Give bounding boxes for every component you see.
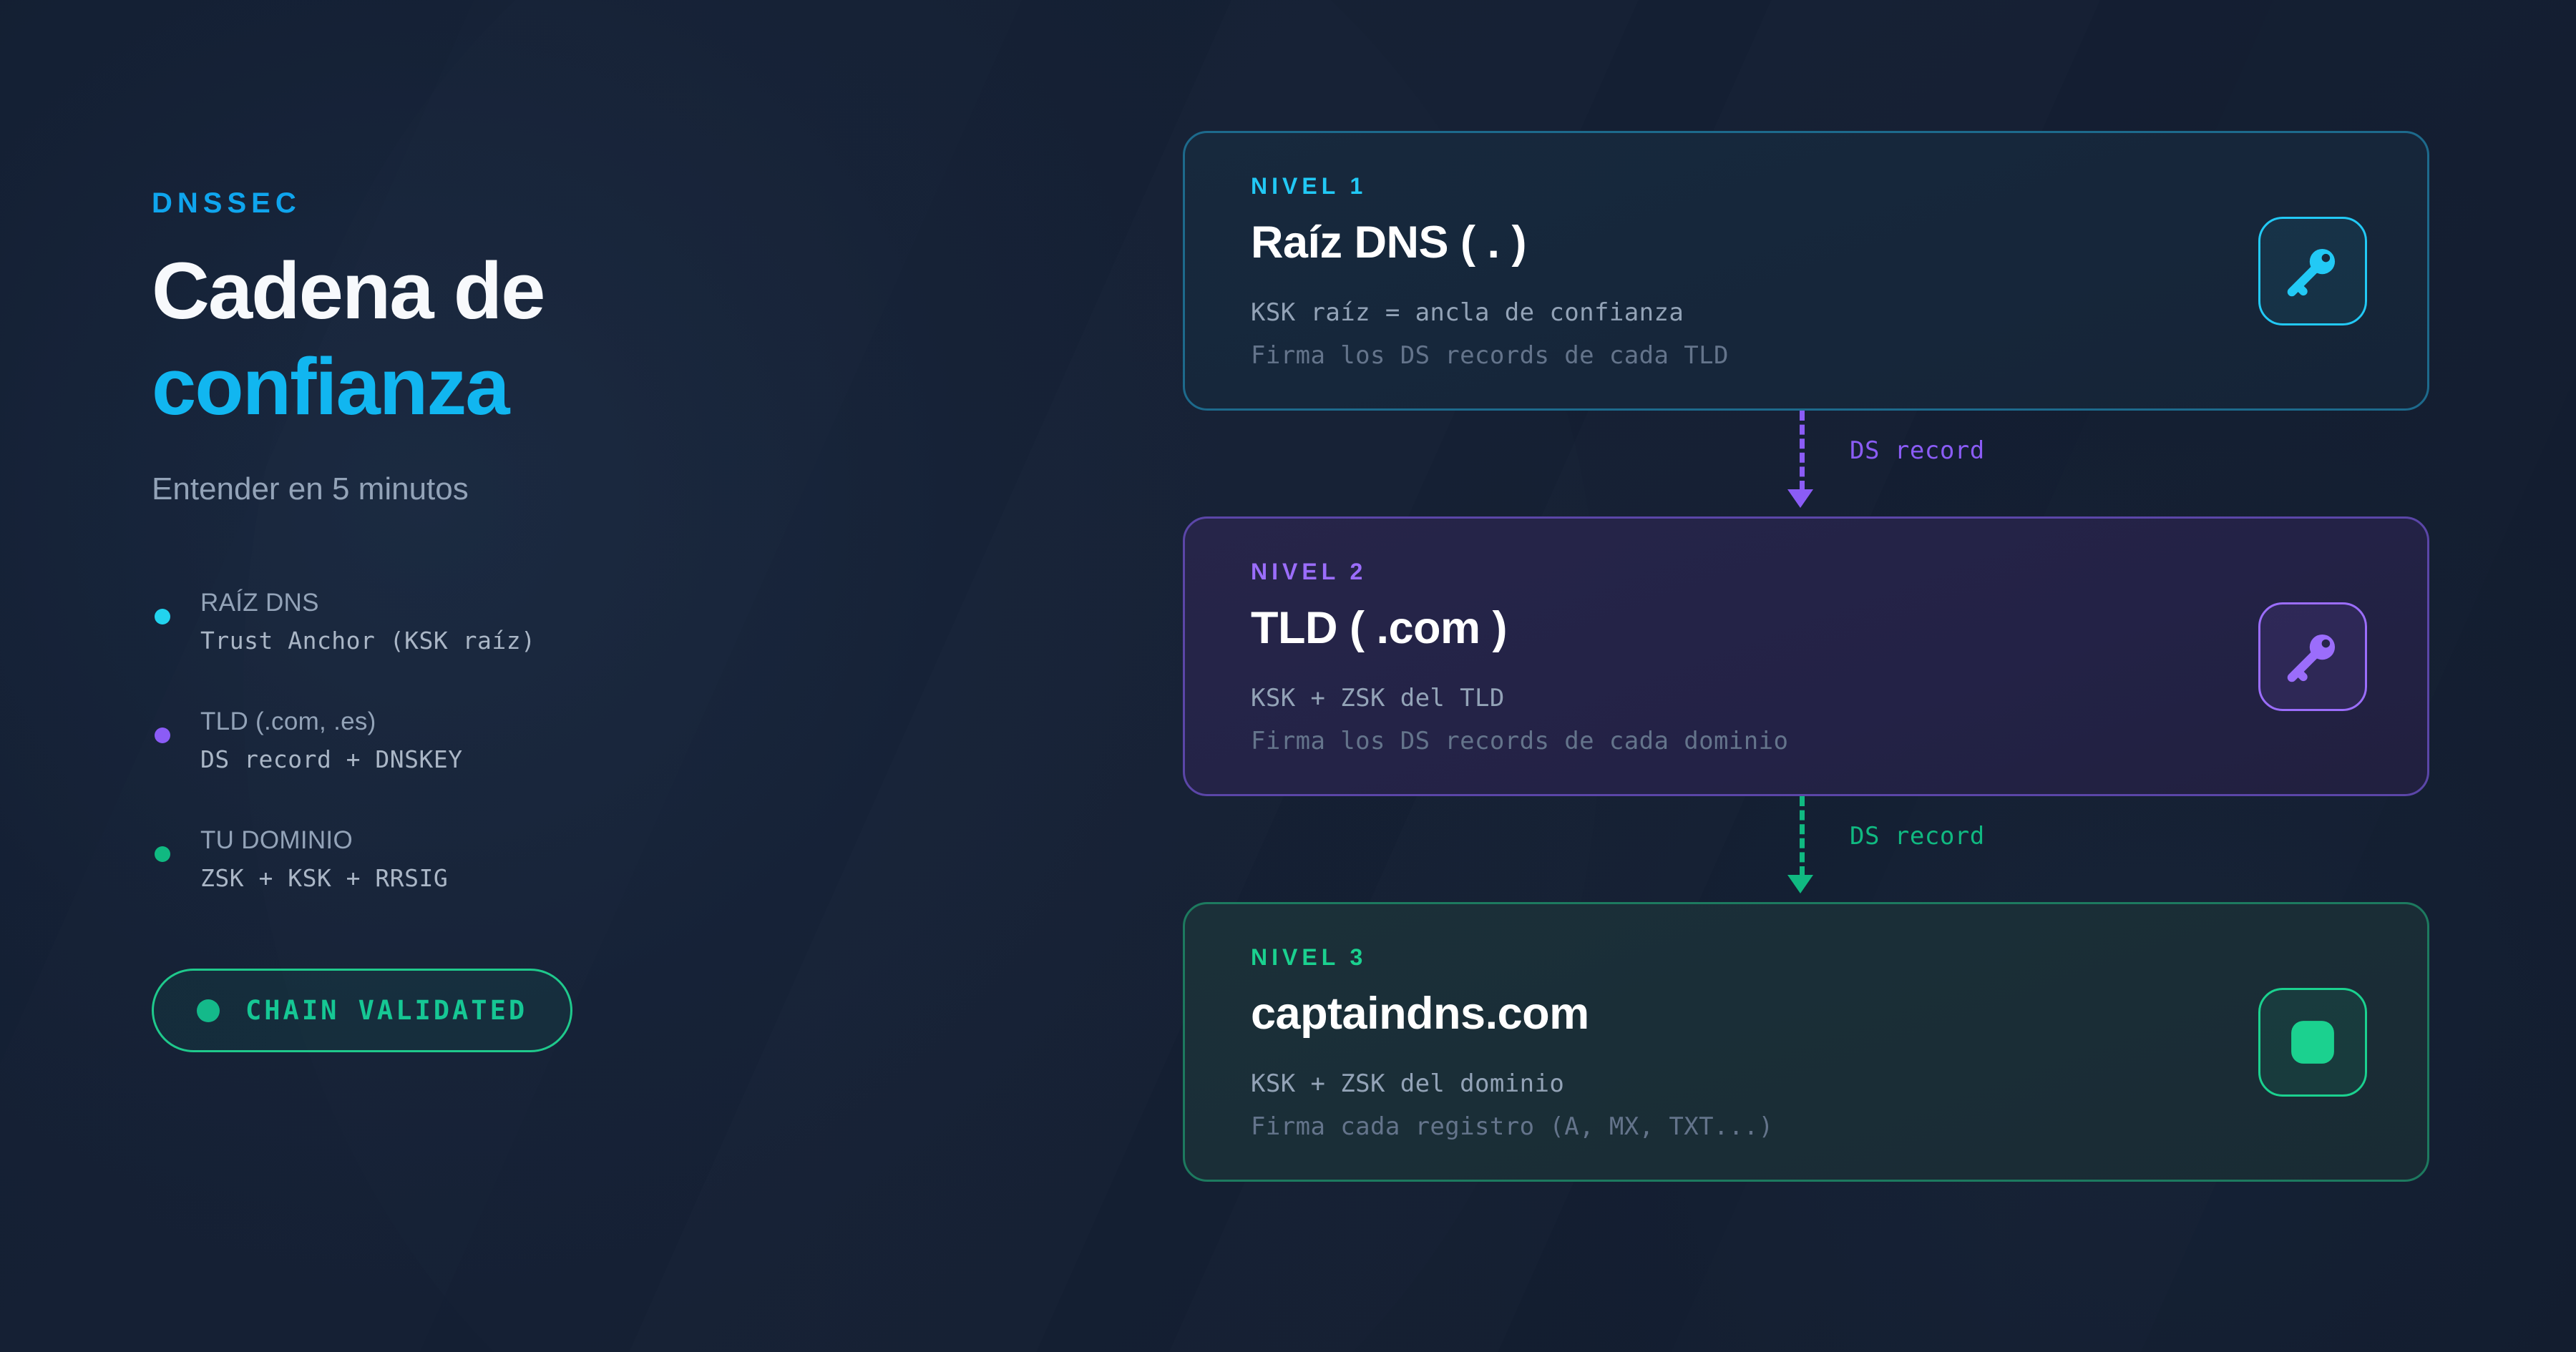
legend-item-detail: Trust Anchor (KSK raíz): [200, 625, 1053, 657]
card-level-label: NIVEL 1: [1251, 173, 2380, 200]
card-detail-secondary: Firma cada registro (A, MX, TXT...): [1251, 1112, 2380, 1141]
card-icon-chip: [2258, 988, 2367, 1097]
status-badge: CHAIN VALIDATED: [152, 969, 572, 1052]
legend-list: RAÍZ DNS Trust Anchor (KSK raíz) TLD (.c…: [152, 586, 1053, 894]
page-title: Cadena de confianza: [152, 251, 1053, 427]
legend-item-title: TU DOMINIO: [200, 823, 1053, 857]
card-title: captaindns.com: [1251, 988, 2380, 1039]
intro-panel: DNSSEC Cadena de confianza Entender en 5…: [152, 187, 1053, 1052]
legend-item-title: RAÍZ DNS: [200, 586, 1053, 619]
page-title-line-1: Cadena de: [152, 246, 544, 335]
key-icon: [2280, 624, 2346, 690]
legend-item-title: TLD (.com, .es): [200, 705, 1053, 738]
card-icon-chip: [2258, 602, 2367, 711]
status-badge-label: CHAIN VALIDATED: [245, 995, 527, 1026]
card-title: Raíz DNS ( . ): [1251, 217, 2380, 268]
legend-item-detail: ZSK + KSK + RRSIG: [200, 863, 1053, 895]
poster-canvas: DNSSEC Cadena de confianza Entender en 5…: [0, 0, 2576, 1352]
page-subtitle: Entender en 5 minutos: [152, 471, 1053, 507]
chain-card-level-1: NIVEL 1 Raíz DNS ( . ) KSK raíz = ancla …: [1183, 131, 2429, 411]
eyebrow-label: DNSSEC: [152, 187, 1053, 220]
chain-card-level-2: NIVEL 2 TLD ( .com ) KSK + ZSK del TLD F…: [1183, 516, 2429, 796]
list-item: RAÍZ DNS Trust Anchor (KSK raíz): [152, 586, 1053, 657]
bullet-dot-icon: [155, 609, 170, 624]
card-detail-primary: KSK + ZSK del TLD: [1251, 684, 2380, 712]
legend-item-detail: DS record + DNSKEY: [200, 744, 1053, 776]
chain-card-level-3: NIVEL 3 captaindns.com KSK + ZSK del dom…: [1183, 902, 2429, 1182]
list-item: TU DOMINIO ZSK + KSK + RRSIG: [152, 823, 1053, 895]
bullet-dot-icon: [155, 728, 170, 743]
card-detail-secondary: Firma los DS records de cada TLD: [1251, 341, 2380, 370]
card-level-label: NIVEL 2: [1251, 559, 2380, 585]
connector-level-1-to-2: DS record: [1183, 411, 2429, 516]
page-title-line-2: confianza: [152, 347, 1053, 427]
connector-line: [1800, 796, 1805, 876]
connector-arrow-icon: [1787, 489, 1813, 508]
card-detail-primary: KSK + ZSK del dominio: [1251, 1069, 2380, 1098]
key-icon: [2280, 238, 2346, 304]
card-detail-secondary: Firma los DS records de cada dominio: [1251, 727, 2380, 755]
trust-chain: NIVEL 1 Raíz DNS ( . ) KSK raíz = ancla …: [1183, 131, 2429, 1182]
connector-level-2-to-3: DS record: [1183, 796, 2429, 902]
connector-line: [1800, 411, 1805, 491]
rounded-square-icon: [2280, 1009, 2346, 1075]
card-title: TLD ( .com ): [1251, 602, 2380, 654]
connector-label: DS record: [1850, 822, 1985, 851]
connector-label: DS record: [1850, 436, 1985, 465]
list-item: TLD (.com, .es) DS record + DNSKEY: [152, 705, 1053, 776]
card-icon-chip: [2258, 217, 2367, 325]
connector-arrow-icon: [1787, 875, 1813, 893]
bullet-dot-icon: [155, 846, 170, 862]
card-detail-primary: KSK raíz = ancla de confianza: [1251, 298, 2380, 327]
status-dot-icon: [197, 999, 220, 1022]
card-level-label: NIVEL 3: [1251, 944, 2380, 971]
